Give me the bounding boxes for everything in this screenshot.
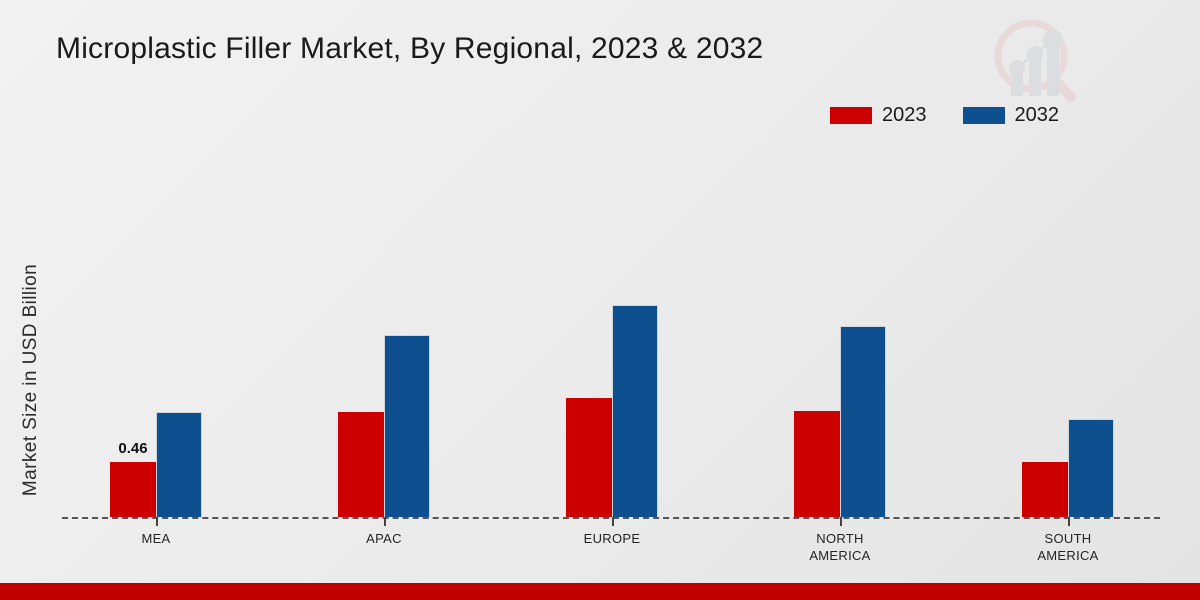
- bar-group-apac: APAC: [338, 139, 430, 517]
- chart-legend: 2023 2032: [830, 104, 1059, 127]
- tick-apac: [384, 517, 386, 526]
- bar-group-south-america: SOUTH AMERICA: [1022, 139, 1114, 517]
- bar-europe-2032[interactable]: [612, 305, 658, 517]
- tick-europe: [612, 517, 614, 526]
- y-axis-title: Market Size in USD Billion: [20, 190, 42, 570]
- legend-swatch-2032: [963, 107, 1005, 124]
- tick-south-america: [1068, 517, 1070, 526]
- category-label-mea-line1: MEA: [66, 530, 246, 547]
- tick-north-america: [840, 517, 842, 526]
- legend-label-2023: 2023: [882, 104, 927, 127]
- bar-north-america-2023[interactable]: [794, 411, 840, 517]
- category-label-south-america-line2: AMERICA: [978, 547, 1158, 564]
- bar-north-america-2032[interactable]: [840, 326, 886, 517]
- bar-group-north-america: NORTH AMERICA: [794, 139, 886, 517]
- bar-apac-2023[interactable]: [338, 412, 384, 517]
- bar-south-america-2023[interactable]: [1022, 462, 1068, 517]
- footer-bar: [0, 583, 1200, 600]
- category-label-south-america-line1: SOUTH: [978, 530, 1158, 547]
- bar-mea-2023[interactable]: [110, 462, 156, 517]
- bar-apac-2032[interactable]: [384, 335, 430, 517]
- chart-title: Microplastic Filler Market, By Regional,…: [56, 32, 763, 66]
- plot-area: 0.46 MEA APAC: [62, 140, 1160, 518]
- category-label-apac-line1: APAC: [294, 530, 474, 547]
- watermark-logo: [985, 12, 1083, 110]
- category-label-south-america: SOUTH AMERICA: [978, 530, 1158, 564]
- legend-item-2032[interactable]: 2032: [963, 104, 1060, 127]
- category-label-europe-line1: EUROPE: [522, 530, 702, 547]
- x-axis-baseline: [62, 517, 1160, 519]
- bar-group-europe: EUROPE: [566, 139, 658, 517]
- bar-group-mea: 0.46 MEA: [110, 139, 202, 517]
- category-label-mea: MEA: [66, 530, 246, 547]
- category-label-europe: EUROPE: [522, 530, 702, 547]
- category-label-apac: APAC: [294, 530, 474, 547]
- category-label-north-america: NORTH AMERICA: [750, 530, 930, 564]
- legend-swatch-2023: [830, 107, 872, 124]
- tick-mea: [156, 517, 158, 526]
- legend-label-2032: 2032: [1015, 104, 1060, 127]
- category-label-north-america-line1: NORTH: [750, 530, 930, 547]
- category-label-north-america-line2: AMERICA: [750, 547, 930, 564]
- legend-item-2023[interactable]: 2023: [830, 104, 927, 127]
- bar-mea-2032[interactable]: [156, 412, 202, 517]
- chart-container: Microplastic Filler Market, By Regional,…: [0, 0, 1200, 600]
- bar-south-america-2032[interactable]: [1068, 419, 1114, 517]
- bar-europe-2023[interactable]: [566, 398, 612, 517]
